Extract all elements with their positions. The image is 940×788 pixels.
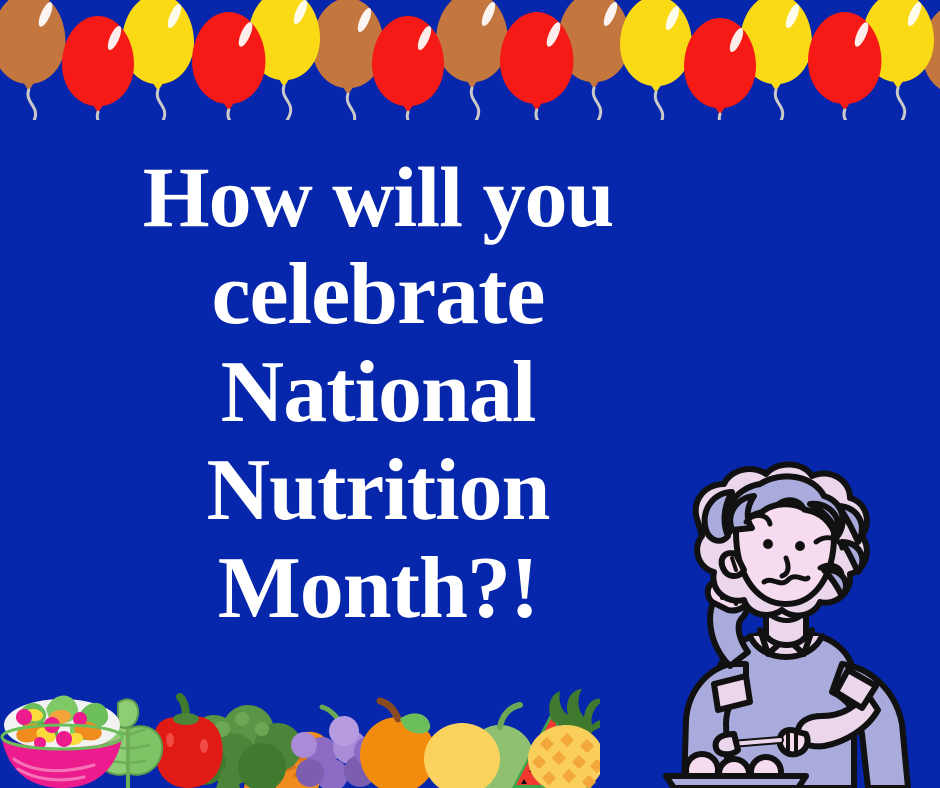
orange-fruit-icon (360, 701, 436, 788)
poster-canvas: How will you celebrate National Nutritio… (0, 0, 940, 788)
page-title: How will you celebrate National Nutritio… (78, 148, 678, 638)
pineapple-icon (528, 689, 600, 788)
balloon-1-icon (0, 0, 65, 114)
balloon-7-icon (372, 16, 444, 120)
balloon-string (466, 88, 488, 120)
balloon-body (372, 16, 444, 106)
headline-line-2: celebrate (78, 246, 678, 344)
balloon-body (620, 0, 692, 86)
balloon-body (808, 12, 881, 104)
balloon-4-icon (192, 12, 265, 120)
headline-line-1: How will you (78, 148, 678, 246)
person-illustration (610, 458, 940, 788)
balloon-string (839, 110, 861, 120)
balloon-string (714, 114, 736, 120)
balloon-11-icon (620, 0, 692, 116)
balloon-body (436, 0, 508, 82)
balloon-border (0, 0, 940, 120)
balloon-string (92, 112, 114, 120)
balloon-string (402, 112, 424, 120)
balloon-string (650, 92, 672, 120)
salad-bowl-icon (2, 696, 122, 788)
balloon-string (223, 110, 245, 120)
headline-line-5: Month?! (78, 540, 678, 638)
balloon-body (684, 18, 756, 108)
balloon-string (23, 90, 45, 120)
balloon-body (192, 12, 265, 104)
bell-pepper-icon (155, 697, 223, 788)
balloon-12-icon (684, 18, 756, 120)
balloon-string (278, 86, 300, 120)
balloon-string (770, 90, 792, 120)
headline-line-3: National (78, 344, 678, 442)
produce-border (0, 673, 600, 788)
balloon-string (152, 90, 174, 120)
balloon-body (0, 0, 65, 84)
headline-line-4: Nutrition (78, 442, 678, 540)
balloon-14-icon (808, 12, 881, 120)
balloon-string (588, 88, 610, 120)
balloon-8-icon (436, 0, 508, 112)
balloon-body (500, 12, 573, 104)
balloon-body (62, 16, 134, 106)
balloon-string (531, 110, 553, 120)
balloon-string (892, 88, 914, 120)
balloon-9-icon (500, 12, 573, 120)
balloon-string (342, 94, 364, 120)
balloon-2-icon (62, 16, 134, 120)
